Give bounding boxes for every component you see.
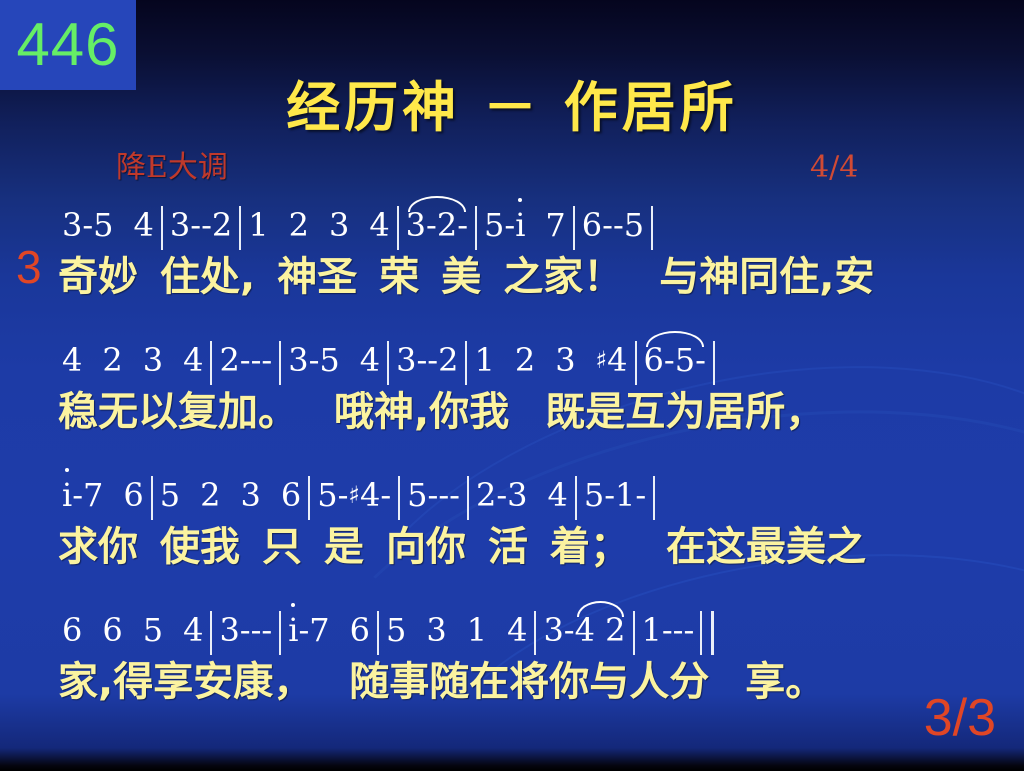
barline bbox=[633, 611, 635, 655]
lyrics-row: 家,得享安康，随事随在将你与人分享。 bbox=[0, 655, 1024, 709]
barline bbox=[467, 476, 469, 520]
barline bbox=[713, 341, 715, 385]
barline bbox=[161, 206, 163, 250]
note-group: 3 bbox=[426, 605, 446, 655]
note-group: 1--- bbox=[642, 605, 695, 655]
music-system-2: 42342---3-543--2123♯46-5- 稳无以复加。哦神,你我既是互… bbox=[0, 335, 1024, 439]
lyric-group: 只 bbox=[262, 520, 302, 574]
lyric-group: 稳无以复加。 bbox=[58, 385, 298, 439]
slur-icon bbox=[646, 331, 704, 347]
sharp-note: ♯4 bbox=[596, 335, 628, 385]
note-group: 2 bbox=[515, 335, 535, 385]
note-group: 3--- bbox=[219, 605, 272, 655]
note-group: 2-3 bbox=[476, 470, 528, 520]
lyric-group: 家,得享安康， bbox=[58, 655, 313, 709]
note-group: 4 bbox=[183, 605, 203, 655]
note-group: 3- bbox=[543, 605, 574, 655]
note-group: 4 bbox=[548, 470, 568, 520]
lyric-group: 着； bbox=[550, 520, 630, 574]
lyric-group: 使我 bbox=[160, 520, 240, 574]
note-group: 2 bbox=[102, 335, 122, 385]
note-group: 6 bbox=[102, 605, 122, 655]
barline bbox=[653, 476, 655, 520]
note-group: 3 bbox=[329, 200, 349, 250]
barline bbox=[651, 206, 653, 250]
note-group: 2--- bbox=[219, 335, 272, 385]
sharp-note: ♯4 bbox=[348, 470, 380, 520]
notation-row: 42342---3-543--2123♯46-5- bbox=[0, 335, 1024, 385]
notation-row: 66543---i-7653143-4 21--- bbox=[0, 605, 1024, 655]
barline bbox=[279, 341, 281, 385]
barline bbox=[308, 476, 310, 520]
lyric-group: 活 bbox=[488, 520, 528, 574]
barline bbox=[151, 476, 153, 520]
high-octave-note: i bbox=[515, 200, 525, 250]
lyric-group: 求你 bbox=[58, 520, 138, 574]
sharp-icon: ♯ bbox=[596, 346, 608, 374]
note-group: 3-5 bbox=[288, 335, 340, 385]
music-system-3: i-7652365-♯4-5---2-345-1- 求你使我只是向你活着；在这最… bbox=[0, 470, 1024, 574]
music-system-4: 66543---i-7653143-4 21--- 家,得享安康，随事随在将你与… bbox=[0, 605, 1024, 709]
note-group: 5 bbox=[143, 605, 163, 655]
barline bbox=[210, 341, 212, 385]
note-group: 4 bbox=[134, 200, 154, 250]
key-signature-label: 降E大调 bbox=[116, 152, 228, 184]
note-group: 4 bbox=[62, 335, 82, 385]
note-group: 4 bbox=[507, 605, 527, 655]
note-group: 5-1- bbox=[584, 470, 646, 520]
lyric-group: 是 bbox=[324, 520, 364, 574]
lyric-group: 之家！ bbox=[503, 250, 623, 304]
lyric-group: 哦神,你我 bbox=[334, 385, 509, 439]
high-octave-note: i bbox=[62, 470, 72, 520]
note-group: 5 bbox=[386, 605, 406, 655]
note-group: 5- bbox=[484, 200, 515, 250]
high-octave-note: i bbox=[288, 605, 298, 655]
note-group: 6--5 bbox=[582, 200, 644, 250]
slurred-notes: 4 2 bbox=[575, 605, 626, 655]
note-group: 6 bbox=[62, 605, 82, 655]
barline bbox=[475, 206, 477, 250]
lyric-group: 神圣 bbox=[277, 250, 357, 304]
final-barline bbox=[700, 611, 714, 655]
note-group: 3 bbox=[143, 335, 163, 385]
lyric-group: 奇妙 bbox=[58, 250, 138, 304]
note-group: 6 bbox=[350, 605, 370, 655]
note-group: 6 bbox=[123, 470, 143, 520]
note-group: 3-5 bbox=[62, 200, 114, 250]
lyric-group: 与神同住, bbox=[659, 250, 834, 304]
octave-dot-icon bbox=[291, 603, 295, 607]
lyric-group: 住处, bbox=[160, 250, 255, 304]
note-group: 4 bbox=[369, 200, 389, 250]
octave-dot-icon bbox=[65, 468, 69, 472]
slur-icon bbox=[577, 601, 624, 617]
hymn-slide: 446 经历神 － 作居所 降E大调 4/4 3 3/3 3-543--2123… bbox=[0, 0, 1024, 771]
lyric-group: 享。 bbox=[745, 655, 825, 709]
note-group: - bbox=[380, 470, 391, 520]
barline bbox=[534, 611, 536, 655]
note-group: 5- bbox=[317, 470, 348, 520]
note-group: 3--2 bbox=[170, 200, 232, 250]
barline bbox=[239, 206, 241, 250]
lyric-group: 在这最美之 bbox=[666, 520, 866, 574]
note-group: 2 bbox=[200, 470, 220, 520]
note-group: 1 bbox=[248, 200, 268, 250]
lyric-group: 向你 bbox=[386, 520, 466, 574]
lyric-group: 随事随在将你与人分 bbox=[349, 655, 709, 709]
note-group: 5 bbox=[160, 470, 180, 520]
lyric-group: 美 bbox=[441, 250, 481, 304]
note-group: 1 bbox=[467, 605, 487, 655]
lyrics-row: 稳无以复加。哦神,你我既是互为居所， bbox=[0, 385, 1024, 439]
music-system-1: 3-543--212343-2-5-i76--5 奇妙住处,神圣荣美之家！与神同… bbox=[0, 200, 1024, 304]
barline bbox=[465, 341, 467, 385]
barline bbox=[397, 206, 399, 250]
note-group: 7 bbox=[545, 200, 565, 250]
barline bbox=[635, 341, 637, 385]
lyric-group: 既是互为居所， bbox=[545, 385, 825, 439]
barline bbox=[575, 476, 577, 520]
barline bbox=[279, 611, 281, 655]
notation-row: i-7652365-♯4-5---2-345-1- bbox=[0, 470, 1024, 520]
lyrics-row: 奇妙住处,神圣荣美之家！与神同住,安 bbox=[0, 250, 1024, 304]
lyric-group: 安 bbox=[834, 250, 874, 304]
note-group: 3 bbox=[555, 335, 575, 385]
barline bbox=[377, 611, 379, 655]
note-group: 3 bbox=[240, 470, 260, 520]
note-group: -7 bbox=[72, 470, 103, 520]
note-group: 5--- bbox=[407, 470, 460, 520]
page-title: 经历神 － 作居所 bbox=[0, 78, 1024, 138]
hymn-number: 446 bbox=[0, 2, 136, 88]
note-group: 2 bbox=[289, 200, 309, 250]
hymn-number-badge: 446 bbox=[0, 0, 136, 90]
note-group: -7 bbox=[298, 605, 329, 655]
sharp-icon: ♯ bbox=[348, 481, 360, 509]
barline bbox=[573, 206, 575, 250]
time-signature-label: 4/4 bbox=[810, 152, 858, 184]
note-group: 3--2 bbox=[396, 335, 458, 385]
lyric-group: 荣 bbox=[379, 250, 419, 304]
octave-dot-icon bbox=[518, 198, 522, 202]
note-group: 1 bbox=[474, 335, 494, 385]
notation-row: 3-543--212343-2-5-i76--5 bbox=[0, 200, 1024, 250]
slurred-notes: 3-2- bbox=[406, 200, 468, 250]
note-group: 6 bbox=[281, 470, 301, 520]
lyrics-row: 求你使我只是向你活着；在这最美之 bbox=[0, 520, 1024, 574]
slur-icon bbox=[408, 196, 466, 212]
note-group: 4 bbox=[183, 335, 203, 385]
note-group: 4 bbox=[360, 335, 380, 385]
slurred-notes: 6-5- bbox=[644, 335, 706, 385]
barline bbox=[387, 341, 389, 385]
barline bbox=[398, 476, 400, 520]
barline bbox=[210, 611, 212, 655]
